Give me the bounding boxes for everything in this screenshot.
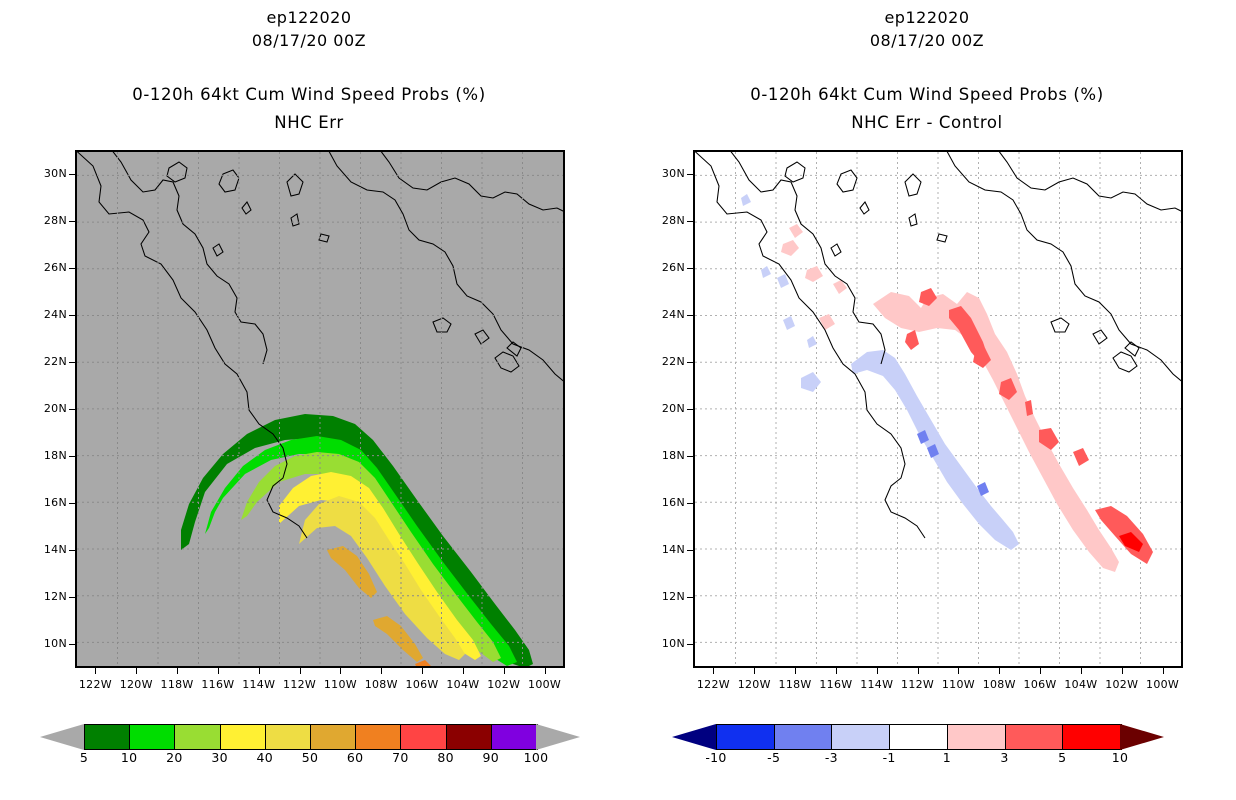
lon-tick-mark bbox=[136, 668, 137, 674]
contour-positive-3to5-patch-b bbox=[905, 330, 919, 350]
lat-tick-label: 24N bbox=[33, 308, 67, 321]
lat-tick-label: 18N bbox=[651, 449, 685, 462]
lat-tick-label: 30N bbox=[33, 167, 67, 180]
lon-tick-label: 118W bbox=[772, 678, 818, 691]
lon-tick-label: 110W bbox=[317, 678, 363, 691]
lon-tick-label: 102W bbox=[481, 678, 527, 691]
contour-field-difference bbox=[695, 152, 1181, 666]
colorbar-tick-label: -1 bbox=[869, 750, 909, 765]
colorbar-left-arrow bbox=[40, 724, 84, 750]
colorbar-tick-label: 40 bbox=[245, 750, 285, 765]
lat-tick-mark bbox=[687, 362, 693, 363]
lon-tick-mark bbox=[300, 668, 301, 674]
lat-tick-label: 28N bbox=[651, 214, 685, 227]
colorbar-tick-label: 30 bbox=[200, 750, 240, 765]
colorbar-tick-label: 10 bbox=[109, 750, 149, 765]
contour-negative-fragment-2 bbox=[777, 274, 789, 288]
colorbar-right-panel-right-arrow bbox=[1120, 724, 1164, 750]
colorbar-swatch bbox=[832, 725, 890, 749]
lon-tick-label: 104W bbox=[1058, 678, 1104, 691]
colorbar-swatch bbox=[401, 725, 446, 749]
lat-tick-mark bbox=[687, 409, 693, 410]
lon-tick-mark bbox=[1163, 668, 1164, 674]
lon-tick-label: 102W bbox=[1099, 678, 1145, 691]
colorbar-swatch bbox=[717, 725, 775, 749]
lon-tick-label: 118W bbox=[154, 678, 200, 691]
colorbar-swatch bbox=[175, 725, 220, 749]
contour-positive-fragment-1 bbox=[781, 240, 799, 256]
colorbar-swatch bbox=[221, 725, 266, 749]
lat-tick-label: 12N bbox=[651, 590, 685, 603]
colorbar-tick-label: 50 bbox=[290, 750, 330, 765]
lat-tick-label: 24N bbox=[651, 308, 685, 321]
wind-speed-probability-figure: ep122020 08/17/20 00Z 0-120h 64kt Cum Wi… bbox=[0, 0, 1236, 800]
lon-tick-mark bbox=[218, 668, 219, 674]
lat-tick-label: 20N bbox=[651, 402, 685, 415]
lon-tick-mark bbox=[1040, 668, 1041, 674]
colorbar-swatch bbox=[266, 725, 311, 749]
colorbar-tick-label: 100 bbox=[516, 750, 556, 765]
contour-positive-fragment-5 bbox=[789, 224, 803, 238]
lon-tick-mark bbox=[463, 668, 464, 674]
colorbar-swatch bbox=[775, 725, 833, 749]
colorbar-swatch bbox=[1063, 725, 1121, 749]
lat-tick-mark bbox=[687, 315, 693, 316]
lat-tick-label: 16N bbox=[33, 496, 67, 509]
colorbar-swatch bbox=[85, 725, 130, 749]
lon-tick-mark bbox=[754, 668, 755, 674]
colorbar-difference: -10-5-3-113510 bbox=[672, 712, 1164, 772]
lon-tick-mark bbox=[259, 668, 260, 674]
lat-tick-label: 16N bbox=[651, 496, 685, 509]
colorbar-tick-label: 5 bbox=[64, 750, 104, 765]
lat-tick-label: 12N bbox=[33, 590, 67, 603]
colorbar-tick-label: 20 bbox=[154, 750, 194, 765]
colorbar-probability: 5102030405060708090100 bbox=[40, 712, 580, 772]
contour-negative-fragment-1 bbox=[801, 372, 821, 392]
contour-positive-fragment-4 bbox=[819, 314, 835, 330]
contour-negative-fragment-6 bbox=[741, 194, 751, 206]
panel-right-date: 08/17/20 00Z bbox=[618, 31, 1236, 50]
colorbar-right-arrow bbox=[536, 724, 580, 750]
lat-tick-mark bbox=[687, 597, 693, 598]
lat-tick-label: 28N bbox=[33, 214, 67, 227]
lat-tick-mark bbox=[687, 221, 693, 222]
panel-left-date: 08/17/20 00Z bbox=[0, 31, 618, 50]
colorbar-tick-label: 80 bbox=[426, 750, 466, 765]
lon-tick-mark bbox=[381, 668, 382, 674]
lon-tick-label: 108W bbox=[358, 678, 404, 691]
lon-tick-label: 114W bbox=[236, 678, 282, 691]
contour-field-probability bbox=[77, 152, 563, 666]
panel-left-title: 0-120h 64kt Cum Wind Speed Probs (%) bbox=[0, 85, 618, 104]
lon-tick-label: 106W bbox=[399, 678, 445, 691]
lon-tick-label: 112W bbox=[277, 678, 323, 691]
lon-tick-mark bbox=[877, 668, 878, 674]
lon-tick-mark bbox=[713, 668, 714, 674]
lon-tick-label: 100W bbox=[1140, 678, 1186, 691]
lat-tick-label: 14N bbox=[33, 543, 67, 556]
map-gridlines bbox=[695, 152, 1181, 666]
lat-tick-mark bbox=[687, 503, 693, 504]
colorbar-swatch bbox=[492, 725, 537, 749]
lon-tick-mark bbox=[1122, 668, 1123, 674]
lat-tick-mark bbox=[69, 456, 75, 457]
colorbar-tick-label: 10 bbox=[1100, 750, 1140, 765]
coastline-overlay bbox=[695, 152, 1181, 538]
lon-tick-mark bbox=[918, 668, 919, 674]
colorbar-tick-label: 5 bbox=[1042, 750, 1082, 765]
colorbar-left-swatches bbox=[84, 724, 538, 750]
colorbar-right-panel-left-arrow bbox=[672, 724, 716, 750]
colorbar-swatch bbox=[948, 725, 1006, 749]
lat-tick-label: 30N bbox=[651, 167, 685, 180]
lon-tick-mark bbox=[1081, 668, 1082, 674]
panel-right-storm-id: ep122020 bbox=[618, 8, 1236, 27]
lat-tick-label: 10N bbox=[33, 637, 67, 650]
map-plot-nhc-err bbox=[75, 150, 565, 668]
colorbar-tick-label: 60 bbox=[335, 750, 375, 765]
lon-tick-mark bbox=[340, 668, 341, 674]
colorbar-tick-label: 3 bbox=[985, 750, 1025, 765]
lon-tick-label: 120W bbox=[113, 678, 159, 691]
lat-tick-mark bbox=[69, 550, 75, 551]
contour-negative-fragment-5 bbox=[807, 336, 817, 348]
lon-tick-label: 112W bbox=[895, 678, 941, 691]
lat-tick-label: 18N bbox=[33, 449, 67, 462]
colorbar-swatch bbox=[1006, 725, 1064, 749]
lon-tick-mark bbox=[836, 668, 837, 674]
lat-tick-label: 14N bbox=[651, 543, 685, 556]
lat-tick-label: 22N bbox=[651, 355, 685, 368]
lon-tick-label: 106W bbox=[1017, 678, 1063, 691]
colorbar-swatch bbox=[890, 725, 948, 749]
lon-tick-mark bbox=[177, 668, 178, 674]
lat-tick-mark bbox=[687, 550, 693, 551]
map-plot-nhc-err-minus-control bbox=[693, 150, 1183, 668]
lon-tick-label: 116W bbox=[813, 678, 859, 691]
lat-tick-mark bbox=[69, 174, 75, 175]
panel-left-subtitle: NHC Err bbox=[0, 113, 618, 132]
colorbar-tick-label: -10 bbox=[696, 750, 736, 765]
lat-tick-mark bbox=[69, 268, 75, 269]
lat-tick-mark bbox=[69, 503, 75, 504]
lat-tick-mark bbox=[69, 409, 75, 410]
lat-tick-mark bbox=[687, 644, 693, 645]
lon-tick-label: 116W bbox=[195, 678, 241, 691]
lon-tick-label: 122W bbox=[690, 678, 736, 691]
lat-tick-mark bbox=[687, 268, 693, 269]
colorbar-swatch bbox=[447, 725, 492, 749]
lon-tick-label: 110W bbox=[935, 678, 981, 691]
contour-negative-fragment-4 bbox=[783, 316, 795, 330]
panel-right-title: 0-120h 64kt Cum Wind Speed Probs (%) bbox=[618, 85, 1236, 104]
lon-tick-mark bbox=[422, 668, 423, 674]
lat-tick-label: 26N bbox=[33, 261, 67, 274]
colorbar-swatch bbox=[130, 725, 175, 749]
lon-tick-mark bbox=[95, 668, 96, 674]
lat-tick-label: 22N bbox=[33, 355, 67, 368]
colorbar-swatch bbox=[356, 725, 401, 749]
lat-tick-mark bbox=[69, 644, 75, 645]
lat-tick-label: 26N bbox=[651, 261, 685, 274]
lon-tick-mark bbox=[504, 668, 505, 674]
lon-tick-label: 100W bbox=[522, 678, 568, 691]
map-gridlines bbox=[77, 152, 563, 666]
panel-right-subtitle: NHC Err - Control bbox=[618, 113, 1236, 132]
lon-tick-mark bbox=[999, 668, 1000, 674]
panel-left-storm-id: ep122020 bbox=[0, 8, 618, 27]
lat-tick-mark bbox=[69, 597, 75, 598]
lat-tick-mark bbox=[687, 456, 693, 457]
lon-tick-label: 108W bbox=[976, 678, 1022, 691]
contour-positive-3to5-patch-f bbox=[1073, 448, 1089, 466]
colorbar-right-swatches bbox=[716, 724, 1122, 750]
colorbar-tick-label: 70 bbox=[380, 750, 420, 765]
contour-negative-fragment-3 bbox=[761, 266, 771, 278]
lon-tick-mark bbox=[795, 668, 796, 674]
lat-tick-mark bbox=[69, 315, 75, 316]
lat-tick-mark bbox=[69, 362, 75, 363]
lon-tick-label: 104W bbox=[440, 678, 486, 691]
lat-tick-mark bbox=[69, 221, 75, 222]
lat-tick-mark bbox=[687, 174, 693, 175]
lon-tick-mark bbox=[958, 668, 959, 674]
colorbar-tick-label: 1 bbox=[927, 750, 967, 765]
colorbar-tick-label: -5 bbox=[754, 750, 794, 765]
lat-tick-label: 10N bbox=[651, 637, 685, 650]
lon-tick-label: 120W bbox=[731, 678, 777, 691]
colorbar-tick-label: 90 bbox=[471, 750, 511, 765]
colorbar-swatch bbox=[311, 725, 356, 749]
lat-tick-label: 20N bbox=[33, 402, 67, 415]
lon-tick-label: 114W bbox=[854, 678, 900, 691]
lon-tick-label: 122W bbox=[72, 678, 118, 691]
lon-tick-mark bbox=[545, 668, 546, 674]
colorbar-tick-label: -3 bbox=[811, 750, 851, 765]
